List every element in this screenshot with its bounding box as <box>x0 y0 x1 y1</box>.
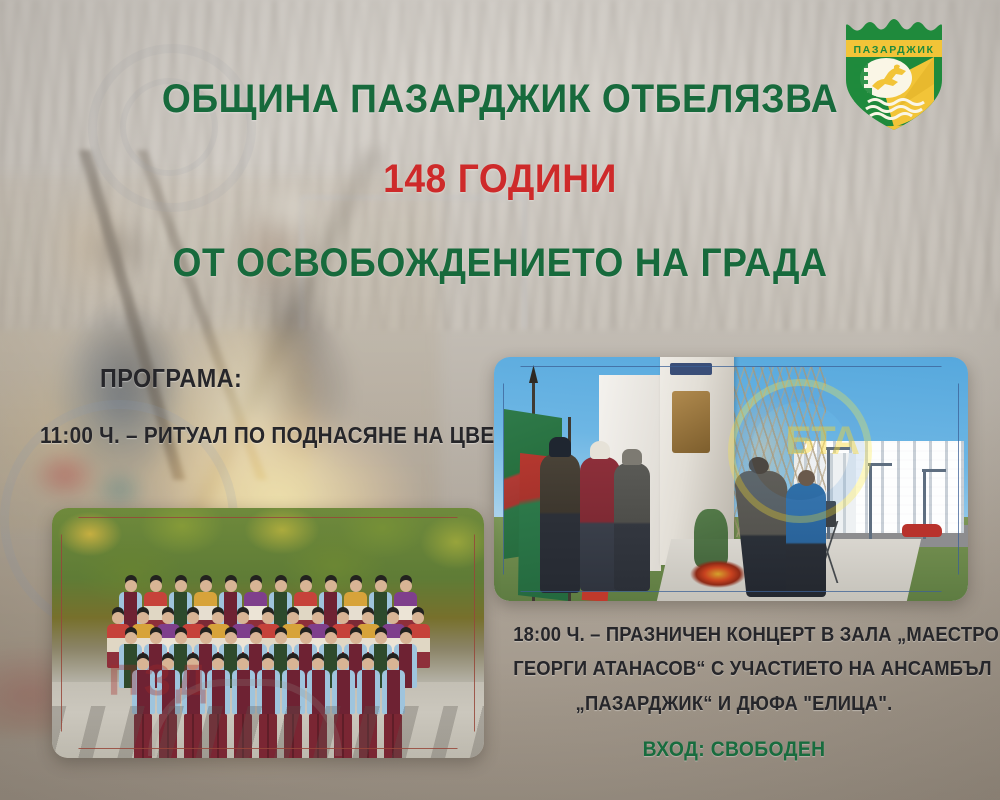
program-item-morning: 11:00 Ч. – РИТУАЛ ПО ПОДНАСЯНЕ НА ЦВЕТЯ <box>40 422 522 449</box>
coat-of-arms-banner-text: ПАЗАРДЖИК <box>854 44 935 56</box>
evening-line-1: 18:00 Ч. – ПРАЗНИЧЕН КОНЦЕРТ В ЗАЛА „МАЕ… <box>513 618 955 652</box>
ceremony-street-lamp <box>869 463 872 539</box>
ceremony-bronze-relief <box>672 391 710 453</box>
ceremony-agency-watermark-text: БТА <box>785 419 858 464</box>
ceremony-monument-plaque <box>670 363 712 375</box>
evening-line-2: ГЕОРГИ АТАНАСОВ“ С УЧАСТИЕТО НА АНСАМБЪЛ <box>513 652 955 686</box>
poster-canvas: ПАЗАРДЖИК ОБЩИНА ПАЗАРДЖИК ОТБЕЛЯЗВА 148… <box>0 0 1000 800</box>
ceremony-person-standard-bearer <box>540 453 580 593</box>
photo-wreath-laying-ceremony: БТА <box>494 357 968 601</box>
program-item-evening: 18:00 Ч. – ПРАЗНИЧЕН КОНЦЕРТ В ЗАЛА „МАЕ… <box>513 618 955 721</box>
ceremony-flower-wreath <box>690 559 746 589</box>
headline-anniversary-years: 148 ГОДИНИ <box>35 157 965 202</box>
headline-line-3: ОТ ОСВОБОЖДЕНИЕТО НА ГРАДА <box>35 241 965 286</box>
ceremony-red-car <box>902 524 942 537</box>
photo-ceremony-inner: БТА <box>494 357 968 601</box>
program-label: ПРОГРАМА: <box>100 363 242 394</box>
photo-folk-ensemble: ПЗД <box>52 508 484 758</box>
evening-line-3: „ПАЗАРДЖИК“ И ДЮФА "ЕЛИЦА". <box>513 687 955 721</box>
free-entry-note: ВХОД: СВОБОДЕН <box>513 738 955 762</box>
headline-line-1: ОБЩИНА ПАЗАРДЖИК ОТБЕЛЯЗВА <box>35 77 965 122</box>
ceremony-person-veteran <box>614 463 650 591</box>
photo-ensemble-inner: ПЗД <box>52 508 484 758</box>
